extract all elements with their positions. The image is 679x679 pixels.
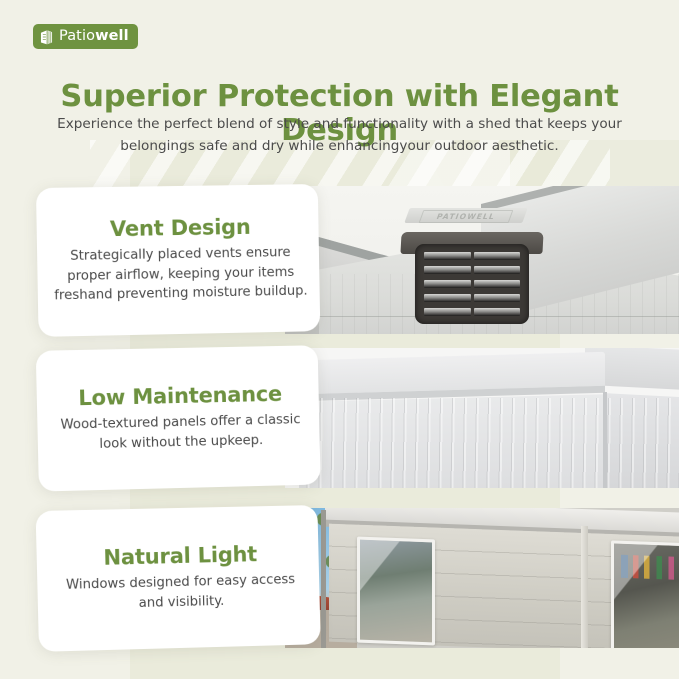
feature-image-low-maintenance [285, 348, 679, 488]
brand-name-light: Patio [59, 28, 95, 44]
vent-louver [424, 280, 471, 288]
vent-louver [474, 266, 521, 274]
feature-description: Wood-textured panels offer a classic loo… [51, 410, 310, 456]
louvered-vent-grille [415, 244, 529, 324]
shed-window-left [357, 537, 435, 646]
vent-louver [424, 294, 471, 302]
vent-louver [424, 308, 471, 316]
brand-logo[interactable]: Patiowell [33, 24, 138, 49]
brand-name-bold: well [95, 28, 129, 44]
shed-gable-vent-photo: PATIOWELL [285, 186, 679, 334]
vent-louver [424, 266, 471, 274]
feature-title: Vent Design [110, 215, 251, 241]
feature-image-vent-design: PATIOWELL [285, 186, 679, 334]
feature-card-vent-design: Vent Design Strategically placed vents e… [36, 184, 320, 337]
vent-louver [474, 252, 521, 260]
feature-row-low-maintenance: Low Maintenance Wood-textured panels off… [38, 348, 679, 488]
feature-description: Strategically placed vents ensure proper… [51, 243, 310, 307]
window-glass-reflection [614, 543, 679, 648]
feature-row-vent-design: PATIOWELL V [38, 186, 679, 334]
shed-logo-icon [39, 29, 54, 45]
vent-louver [474, 294, 521, 302]
shed-windows-photo [285, 508, 679, 648]
roof-emboss-brand-text: PATIOWELL [419, 210, 514, 223]
shed-window-right [611, 540, 679, 648]
vent-column-right [474, 252, 521, 316]
feature-card-natural-light: Natural Light Windows designed for easy … [36, 505, 321, 652]
shed-corner-post [321, 510, 326, 648]
window-glass-reflection [360, 540, 432, 643]
feature-card-content: Natural Light Windows designed for easy … [36, 505, 321, 652]
wood-textured-panel-photo [285, 348, 679, 488]
feature-title: Low Maintenance [78, 381, 282, 410]
vent-louver [474, 308, 521, 316]
feature-row-natural-light: Natural Light Windows designed for easy … [38, 508, 679, 648]
feature-description: Windows designed for easy access and vis… [51, 570, 310, 616]
vent-louver [424, 252, 471, 260]
brand-logo-text: Patiowell [59, 29, 129, 44]
feature-card-content: Vent Design Strategically placed vents e… [36, 184, 320, 337]
shed-wall-panel-seam [581, 526, 588, 648]
panel-corner-seam [603, 392, 607, 488]
vent-column-left [424, 252, 471, 316]
feature-image-natural-light [285, 508, 679, 648]
feature-card-content: Low Maintenance Wood-textured panels off… [36, 345, 321, 491]
vent-louver [474, 280, 521, 288]
panel-wood-grain-texture [299, 398, 679, 488]
feature-title: Natural Light [103, 542, 257, 570]
feature-card-low-maintenance: Low Maintenance Wood-textured panels off… [36, 345, 321, 491]
page-subheadline: Experience the perfect blend of style an… [42, 113, 637, 157]
